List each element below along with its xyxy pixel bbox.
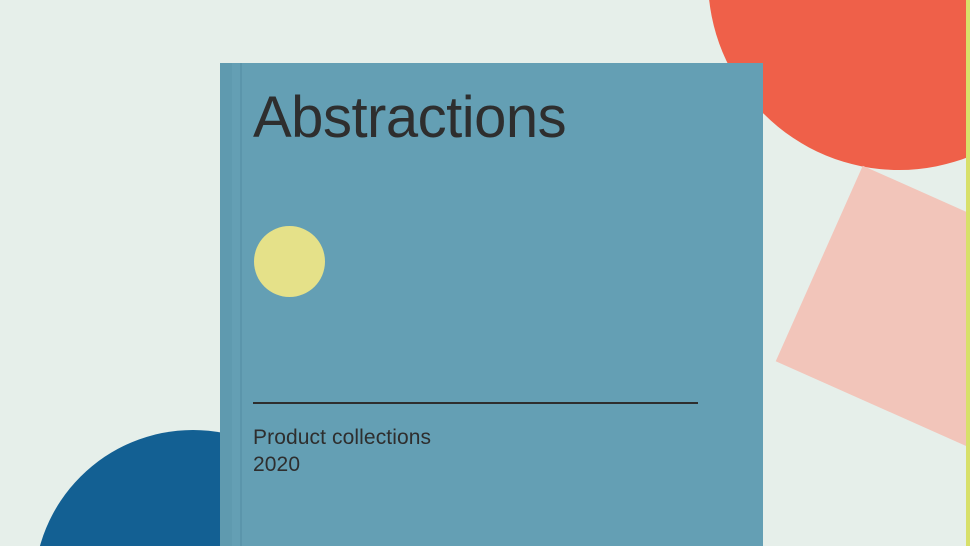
- cover-title: Abstractions: [253, 85, 566, 152]
- pink-square-shape: [776, 166, 970, 449]
- cover-year: 2020: [253, 452, 431, 479]
- accent-dot-shape: [254, 226, 325, 297]
- divider-rule: [253, 402, 698, 404]
- cover-subtitle: Product collections: [253, 425, 431, 452]
- slide-canvas: Abstractions Product collections 2020: [0, 0, 970, 546]
- book-cover: Abstractions Product collections 2020: [220, 63, 763, 546]
- edge-strip-shape: [966, 0, 970, 546]
- cover-footer: Product collections 2020: [253, 425, 431, 478]
- book-cover-content: Abstractions Product collections 2020: [220, 63, 763, 546]
